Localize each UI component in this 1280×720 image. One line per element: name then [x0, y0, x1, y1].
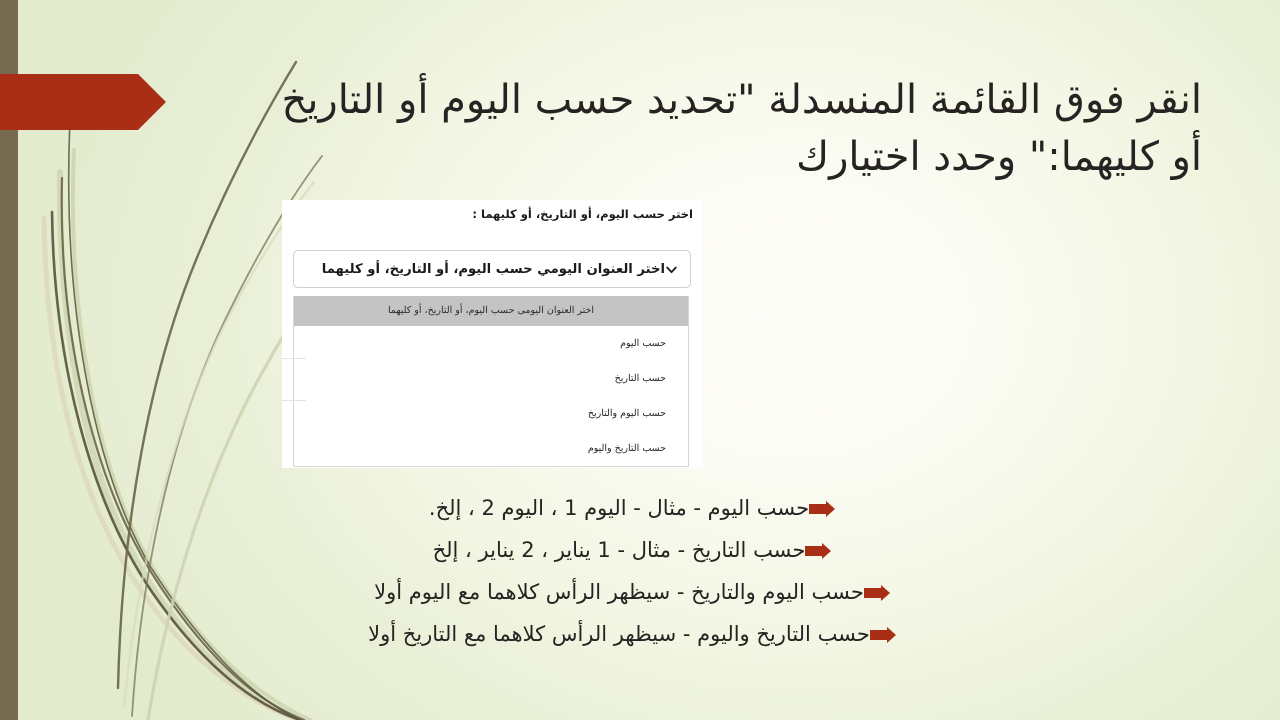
- bullet-list: حسب اليوم - مثال - اليوم 1 ، اليوم 2 ، إ…: [0, 488, 1280, 656]
- arrow-bullet-icon: [870, 627, 896, 643]
- select-selected-value: اختر العنوان اليومي حسب اليوم، أو التاري…: [304, 262, 665, 277]
- dropdown-option-highlighted[interactable]: اختر العنوان اليومى حسب اليوم، أو التاري…: [294, 296, 688, 326]
- day-date-select[interactable]: اختر العنوان اليومي حسب اليوم، أو التاري…: [293, 250, 691, 288]
- embedded-screenshot: اختر حسب اليوم، أو التاريخ، أو كليهما : …: [282, 200, 703, 468]
- slide-title: انقر فوق القائمة المنسدلة "تحديد حسب الي…: [272, 72, 1202, 186]
- dropdown-option-by-date-and-day[interactable]: حسب التاريخ واليوم: [294, 431, 688, 466]
- list-item: حسب التاريخ - مثال - 1 يناير ، 2 يناير ،…: [0, 530, 1280, 572]
- bullet-text: حسب اليوم - مثال - اليوم 1 ، اليوم 2 ، إ…: [429, 496, 809, 521]
- arrow-bullet-icon: [809, 501, 835, 517]
- arrow-bullet-icon: [805, 543, 831, 559]
- list-item: حسب اليوم - مثال - اليوم 1 ، اليوم 2 ، إ…: [0, 488, 1280, 530]
- bullet-text: حسب التاريخ واليوم - سيظهر الرأس كلاهما …: [368, 622, 870, 647]
- select-options-list[interactable]: اختر العنوان اليومى حسب اليوم، أو التاري…: [293, 296, 689, 467]
- list-item: حسب التاريخ واليوم - سيظهر الرأس كلاهما …: [0, 614, 1280, 656]
- dropdown-field-label: اختر حسب اليوم، أو التاريخ، أو كليهما :: [472, 207, 693, 221]
- slide-canvas: انقر فوق القائمة المنسدلة "تحديد حسب الي…: [0, 0, 1280, 720]
- arrow-bullet-icon: [864, 585, 890, 601]
- dropdown-option-by-date[interactable]: حسب التاريخ: [294, 361, 688, 396]
- list-item: حسب اليوم والتاريخ - سيظهر الرأس كلاهما …: [0, 572, 1280, 614]
- bullet-text: حسب التاريخ - مثال - 1 يناير ، 2 يناير ،…: [433, 538, 806, 563]
- page-rule-upper: [282, 358, 306, 359]
- dropdown-option-by-day[interactable]: حسب اليوم: [294, 326, 688, 361]
- chevron-down-icon: [665, 263, 678, 276]
- dropdown-option-by-day-and-date[interactable]: حسب اليوم والتاريخ: [294, 396, 688, 431]
- red-arrow-banner: [0, 74, 166, 130]
- bullet-text: حسب اليوم والتاريخ - سيظهر الرأس كلاهما …: [374, 580, 864, 605]
- page-rule-lower: [282, 400, 306, 401]
